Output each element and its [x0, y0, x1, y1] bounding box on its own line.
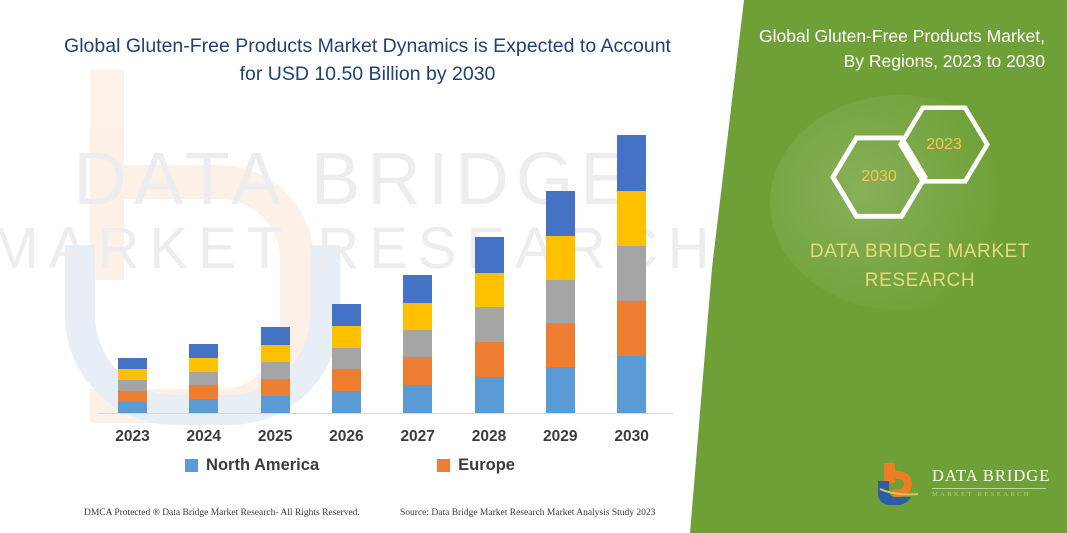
bar-segment-middle-east-and-africa	[261, 327, 290, 344]
bar-segment-south-america	[403, 303, 432, 330]
bar-segment-north-america	[118, 402, 147, 413]
bar-segment-south-america	[261, 345, 290, 362]
bar-segment-europe	[118, 391, 147, 402]
bar-segment-north-america	[546, 367, 575, 413]
bar-segment-south-america	[617, 191, 646, 246]
bar-2025[interactable]	[261, 327, 290, 413]
bar-segment-asia-pacific	[403, 330, 432, 357]
bar-segment-south-america	[546, 236, 575, 280]
legend-label: Europe	[458, 456, 515, 475]
bar-segment-middle-east-and-africa	[332, 304, 361, 326]
infographic-canvas: DATA BRIDGE MARKET RESEARCH Global Glute…	[0, 0, 1067, 533]
legend-item-europe[interactable]: Europe	[437, 456, 515, 475]
x-axis-label-2027: 2027	[388, 428, 448, 446]
bar-segment-europe	[403, 357, 432, 385]
logo-divider	[932, 488, 1046, 489]
bar-2027[interactable]	[403, 275, 432, 413]
hexagon-2030-label: 2030	[861, 168, 897, 186]
logo-tagline: MARKET RESEARCH	[932, 491, 1050, 498]
bar-segment-europe	[546, 323, 575, 367]
bar-segment-europe	[189, 385, 218, 399]
bar-segment-north-america	[261, 396, 290, 413]
x-axis-label-2023: 2023	[103, 428, 163, 446]
data-bridge-logo: DATA BRIDGE MARKET RESEARCH	[874, 461, 1049, 509]
bar-segment-asia-pacific	[475, 307, 504, 342]
x-axis-label-2028: 2028	[459, 428, 519, 446]
bar-segment-south-america	[118, 369, 147, 380]
bar-segment-europe	[261, 379, 290, 396]
bar-segment-middle-east-and-africa	[546, 191, 575, 236]
legend-swatch-icon	[437, 459, 450, 472]
logo-wordmark: DATA BRIDGE MARKET RESEARCH	[932, 466, 1050, 498]
bar-segment-asia-pacific	[189, 372, 218, 386]
chart-legend: North AmericaEurope	[0, 456, 700, 475]
x-axis-label-2030: 2030	[602, 428, 662, 446]
x-axis-label-2025: 2025	[245, 428, 305, 446]
stacked-bar-chart: 20232024202520262027202820292030	[0, 0, 710, 533]
x-axis-label-2026: 2026	[316, 428, 376, 446]
x-axis-line	[98, 413, 673, 414]
bar-segment-asia-pacific	[617, 246, 646, 301]
bar-segment-north-america	[475, 377, 504, 413]
logo-name: DATA BRIDGE	[932, 466, 1050, 486]
bar-segment-asia-pacific	[261, 362, 290, 379]
bar-2030[interactable]	[617, 135, 646, 413]
legend-swatch-icon	[185, 459, 198, 472]
bar-segment-north-america	[403, 385, 432, 413]
hexagon-badges: 2030 2023	[820, 105, 1000, 205]
bar-segment-asia-pacific	[546, 280, 575, 324]
bar-segment-south-america	[475, 273, 504, 308]
bar-segment-north-america	[617, 356, 646, 413]
bar-2023[interactable]	[118, 358, 147, 413]
x-axis-label-2029: 2029	[530, 428, 590, 446]
bar-2024[interactable]	[189, 344, 218, 413]
data-bridge-logo-icon	[874, 461, 926, 507]
bar-segment-north-america	[189, 399, 218, 413]
bar-segment-south-america	[332, 326, 361, 347]
bar-segment-europe	[617, 301, 646, 356]
brand-line-1: DATA BRIDGE MARKET	[790, 238, 1050, 267]
panel-title: Global Gluten-Free Products Market, By R…	[745, 24, 1045, 75]
legend-item-north-america[interactable]: North America	[185, 456, 319, 475]
bar-segment-europe	[475, 342, 504, 377]
bar-segment-asia-pacific	[332, 348, 361, 369]
hexagon-badge-2023: 2023	[898, 105, 990, 185]
bar-segment-middle-east-and-africa	[617, 135, 646, 191]
bar-segment-middle-east-and-africa	[189, 344, 218, 358]
brand-line-2: RESEARCH	[790, 267, 1050, 296]
bar-2029[interactable]	[546, 191, 575, 413]
bar-segment-middle-east-and-africa	[475, 237, 504, 273]
footer-copyright: DMCA Protected ® Data Bridge Market Rese…	[84, 508, 360, 518]
bar-segment-europe	[332, 369, 361, 391]
legend-label: North America	[206, 456, 319, 475]
brand-name: DATA BRIDGE MARKET RESEARCH	[790, 238, 1050, 295]
bar-segment-middle-east-and-africa	[118, 358, 147, 369]
bar-segment-middle-east-and-africa	[403, 275, 432, 303]
hexagon-2023-label: 2023	[926, 136, 962, 154]
bar-2026[interactable]	[332, 304, 361, 413]
bar-segment-north-america	[332, 391, 361, 413]
bar-2028[interactable]	[475, 237, 504, 413]
bar-segment-south-america	[189, 358, 218, 372]
x-axis-label-2024: 2024	[174, 428, 234, 446]
footer-source: Source: Data Bridge Market Research Mark…	[400, 508, 655, 518]
bar-segment-asia-pacific	[118, 380, 147, 391]
